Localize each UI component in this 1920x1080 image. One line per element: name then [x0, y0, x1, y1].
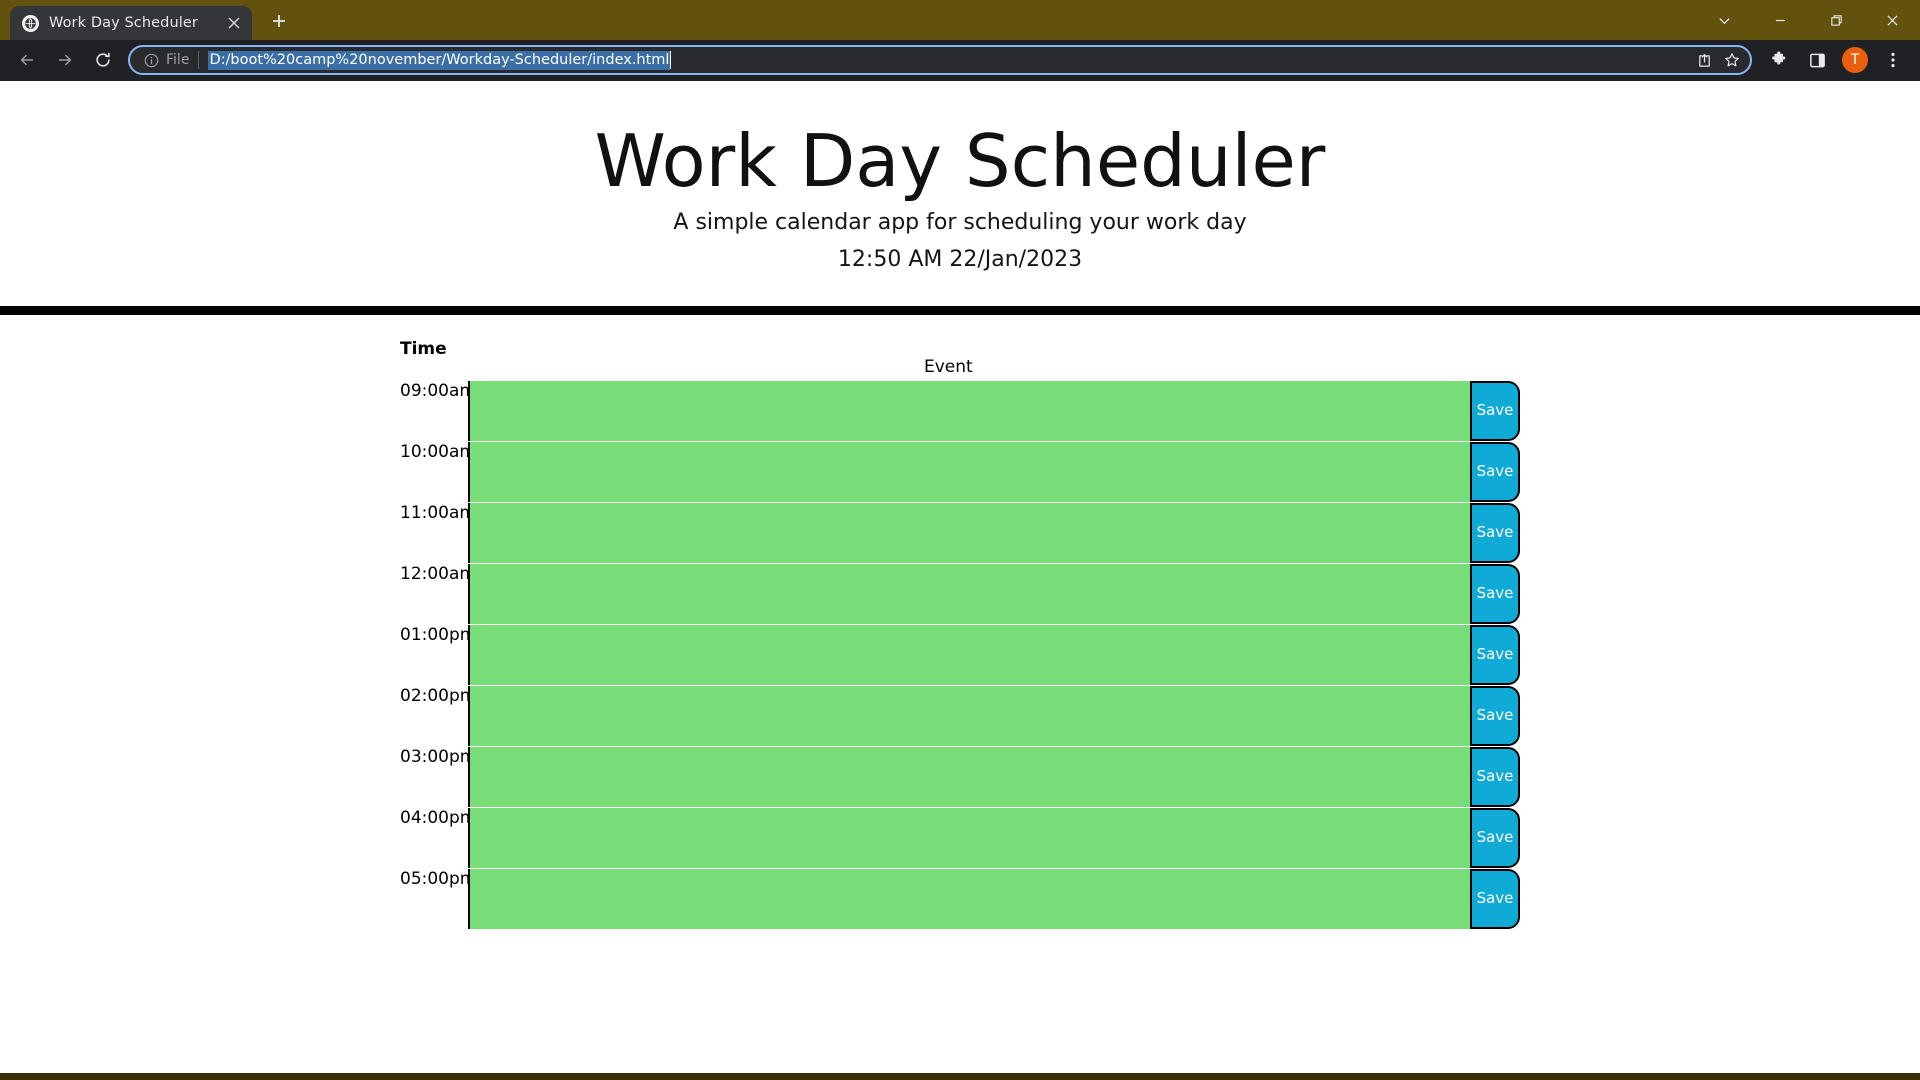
column-header-event: Event — [924, 357, 973, 377]
event-input-hour-17[interactable] — [468, 869, 1470, 929]
restore-icon[interactable] — [1808, 0, 1864, 40]
hour-label-wrap: 11:00am — [400, 503, 468, 563]
time-block: 04:00pmSave — [400, 808, 1520, 868]
hour-label: 11:00am — [400, 503, 468, 522]
event-input-hour-13[interactable] — [468, 625, 1470, 685]
hour-label-wrap: 12:00am — [400, 564, 468, 624]
time-block: 10:00amSave — [400, 442, 1520, 502]
event-input-hour-12[interactable] — [468, 564, 1470, 624]
save-button-hour-9[interactable]: Save — [1470, 381, 1520, 441]
current-day: 12:50 AM 22/Jan/2023 — [0, 247, 1920, 272]
hour-label-wrap: 02:00pm — [400, 686, 468, 746]
close-icon[interactable] — [1864, 0, 1920, 40]
hour-label-wrap: 09:00am — [400, 381, 468, 441]
chevron-down-icon[interactable] — [1696, 0, 1752, 40]
tab-work-day-scheduler[interactable]: Work Day Scheduler — [10, 6, 252, 40]
hour-label: 09:00am — [400, 381, 468, 400]
hour-label-wrap: 01:00pm — [400, 625, 468, 685]
time-block: 01:00pmSave — [400, 625, 1520, 685]
event-input-hour-15[interactable] — [468, 747, 1470, 807]
event-input-hour-16[interactable] — [468, 808, 1470, 868]
side-panel-icon[interactable] — [1800, 43, 1834, 77]
time-block: 12:00amSave — [400, 564, 1520, 624]
event-input-hour-9[interactable] — [468, 381, 1470, 441]
address-bar[interactable]: File D:/boot%20camp%20november/Workday-S… — [128, 45, 1752, 75]
url-text[interactable]: D:/boot%20camp%20november/Workday-Schedu… — [208, 51, 670, 70]
save-button-hour-17[interactable]: Save — [1470, 869, 1520, 929]
time-block: 11:00amSave — [400, 503, 1520, 563]
page-viewport: Work Day Scheduler A simple calendar app… — [0, 81, 1920, 1080]
page-header: Work Day Scheduler A simple calendar app… — [0, 81, 1920, 315]
event-input-hour-14[interactable] — [468, 686, 1470, 746]
column-headers: Time Event — [400, 339, 1520, 381]
page-title: Work Day Scheduler — [0, 121, 1920, 202]
hour-label: 05:00pm — [400, 869, 468, 888]
page-subtitle: A simple calendar app for scheduling you… — [0, 210, 1920, 235]
info-circle-icon[interactable] — [140, 49, 162, 71]
omnibox-actions — [1690, 46, 1746, 74]
schedule-list: 09:00amSave10:00amSave11:00amSave12:00am… — [400, 381, 1520, 929]
time-block: 09:00amSave — [400, 381, 1520, 441]
save-button-hour-13[interactable]: Save — [1470, 625, 1520, 685]
puzzle-icon[interactable] — [1762, 43, 1796, 77]
star-icon[interactable] — [1718, 46, 1746, 74]
scheduler-container: Time Event 09:00amSave10:00amSave11:00am… — [400, 315, 1520, 929]
browser-toolbar: File D:/boot%20camp%20november/Workday-S… — [0, 40, 1920, 81]
tab-close-icon[interactable] — [224, 13, 244, 33]
share-icon[interactable] — [1690, 46, 1718, 74]
new-tab-button[interactable] — [262, 4, 296, 38]
hour-label-wrap: 03:00pm — [400, 747, 468, 807]
back-button[interactable] — [11, 44, 43, 76]
save-button-hour-15[interactable]: Save — [1470, 747, 1520, 807]
hour-label-wrap: 10:00am — [400, 442, 468, 502]
save-button-hour-11[interactable]: Save — [1470, 503, 1520, 563]
browser-window: Work Day Scheduler — [0, 0, 1920, 1080]
hour-label: 03:00pm — [400, 747, 468, 766]
save-button-hour-14[interactable]: Save — [1470, 686, 1520, 746]
hour-label: 01:00pm — [400, 625, 468, 644]
three-dot-menu-icon[interactable] — [1876, 43, 1910, 77]
save-button-hour-16[interactable]: Save — [1470, 808, 1520, 868]
url-scheme-label: File — [166, 51, 199, 69]
url-caret — [670, 51, 671, 69]
event-input-hour-10[interactable] — [468, 442, 1470, 502]
column-header-time: Time — [400, 339, 447, 359]
save-button-hour-10[interactable]: Save — [1470, 442, 1520, 502]
time-block: 03:00pmSave — [400, 747, 1520, 807]
window-controls — [1696, 0, 1920, 40]
hour-label: 04:00pm — [400, 808, 468, 827]
hour-label-wrap: 05:00pm — [400, 869, 468, 929]
hour-label-wrap: 04:00pm — [400, 808, 468, 868]
hour-label: 02:00pm — [400, 686, 468, 705]
time-block: 02:00pmSave — [400, 686, 1520, 746]
forward-button[interactable] — [49, 44, 81, 76]
tab-title: Work Day Scheduler — [49, 15, 224, 31]
reload-button[interactable] — [87, 44, 119, 76]
event-input-hour-11[interactable] — [468, 503, 1470, 563]
window-bottom-strip — [0, 1073, 1920, 1080]
profile-avatar[interactable]: T — [1842, 47, 1868, 73]
hour-label: 12:00am — [400, 564, 468, 583]
tab-strip: Work Day Scheduler — [0, 0, 1920, 40]
time-block: 05:00pmSave — [400, 869, 1520, 929]
globe-icon — [22, 15, 39, 32]
save-button-hour-12[interactable]: Save — [1470, 564, 1520, 624]
minimize-icon[interactable] — [1752, 0, 1808, 40]
hour-label: 10:00am — [400, 442, 468, 461]
